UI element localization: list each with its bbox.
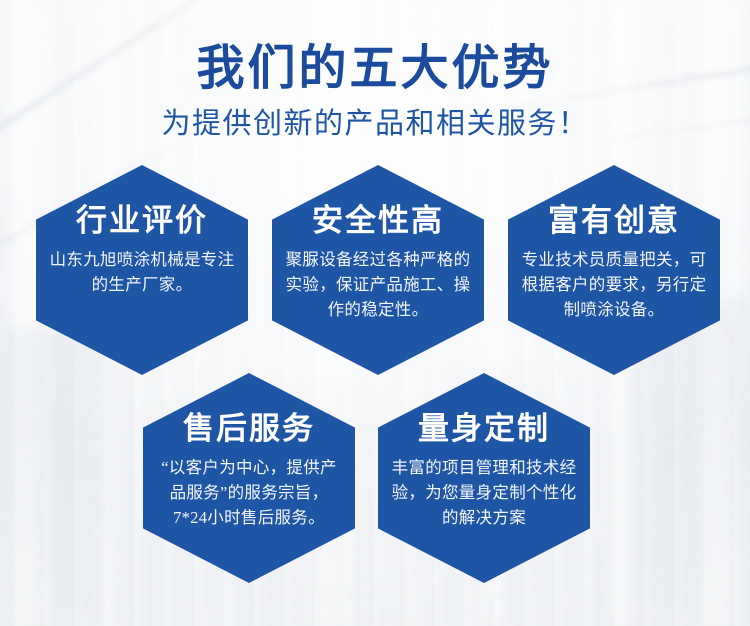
advantage-card-4-title: 售后服务 [183,410,315,448]
page-title: 我们的五大优势 [0,38,750,100]
advantage-card-3-body: 专业技术员质量把关，可根据客户的要求，另行定制喷涂设备。 [518,247,710,322]
advantages-poster: 我们的五大优势 为提供创新的产品和相关服务！ 行业评价 山东九旭喷涂机械是专注的… [0,0,750,626]
page-subtitle: 为提供创新的产品和相关服务！ [0,106,750,142]
advantage-card-5-title: 量身定制 [418,410,550,448]
advantage-card-2-title: 安全性高 [312,202,444,240]
advantage-card-2-body: 聚脲设备经过各种严格的实验，保证产品施工、操作的稳定性。 [282,247,474,322]
advantage-card-4-body: “以客户为中心，提供产品服务”的服务宗旨，7*24小时售后服务。 [153,455,345,530]
header-block: 我们的五大优势 为提供创新的产品和相关服务！ [0,38,750,142]
advantage-card-1-title: 行业评价 [76,202,208,240]
advantage-card-1-body: 山东九旭喷涂机械是专注的生产厂家。 [46,247,238,297]
advantage-card-5-body: 丰富的项目管理和技术经验，为您量身定制个性化的解决方案 [388,455,580,530]
advantage-card-3-title: 富有创意 [548,202,680,240]
